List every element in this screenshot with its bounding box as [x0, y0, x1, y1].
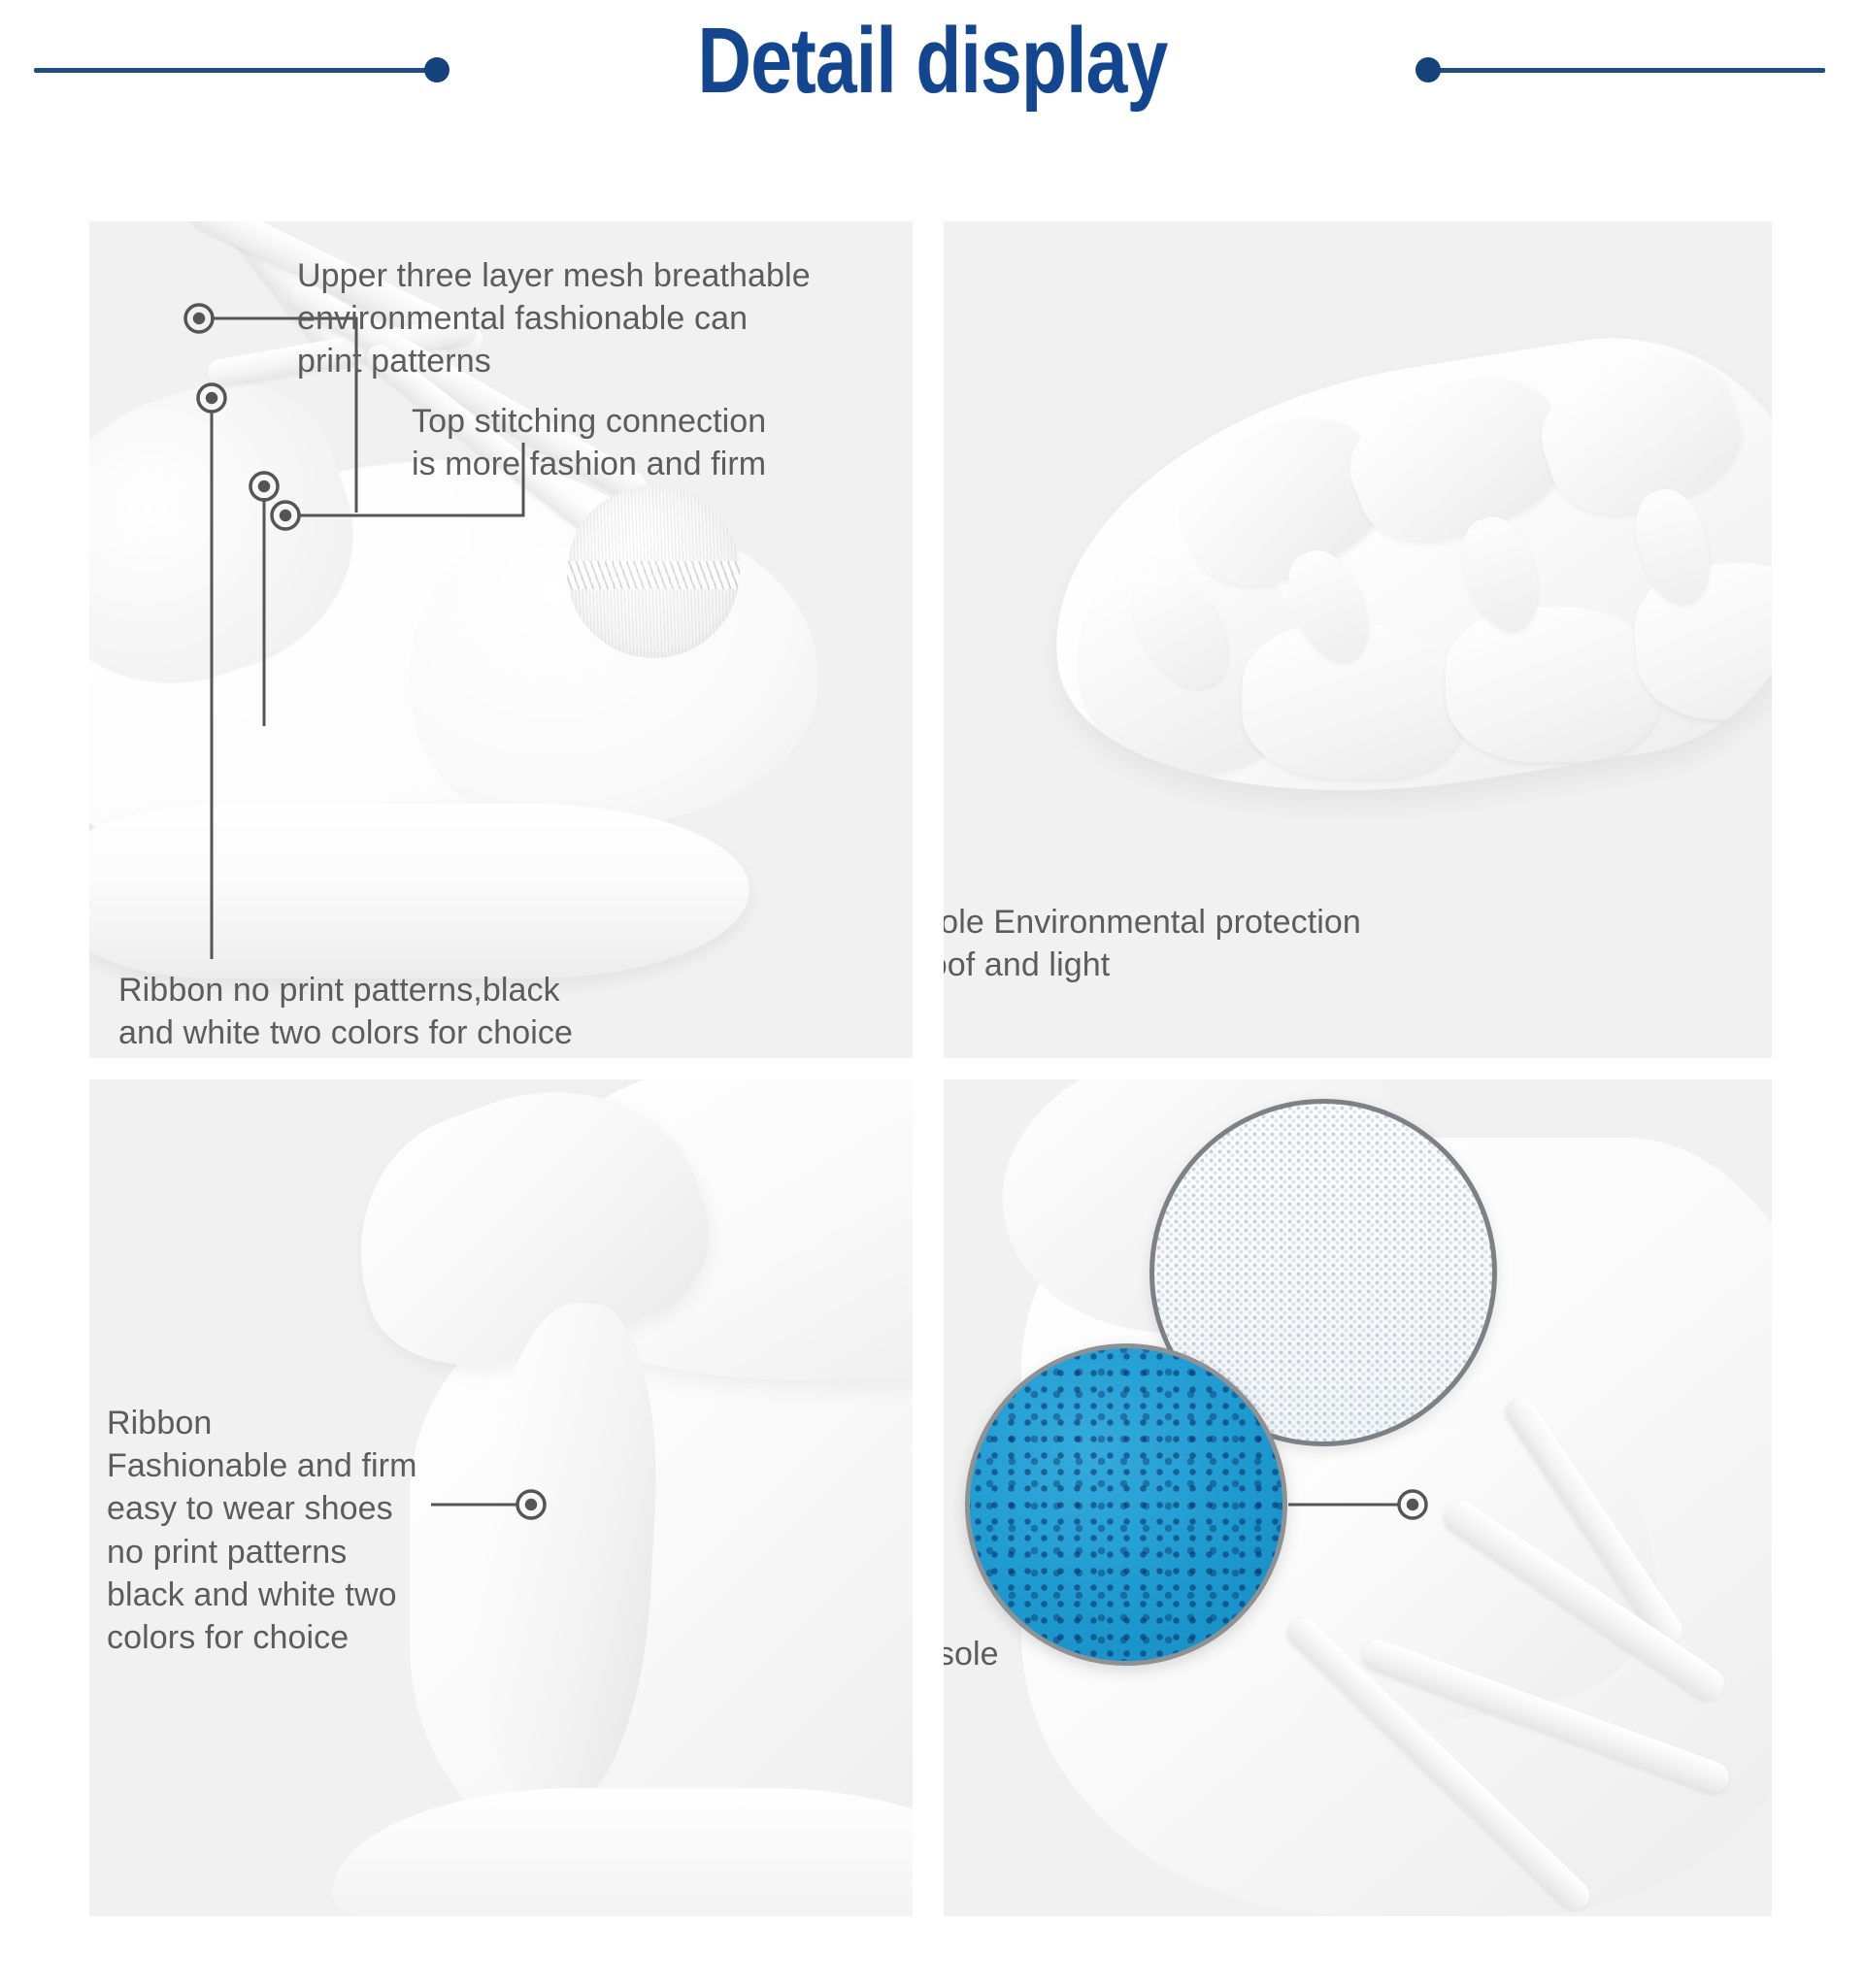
panel-outsole: Phylon sole Environmental protection sho… [944, 221, 1772, 1058]
insole-shoe-photo [944, 1079, 1772, 1916]
caption-upper-mesh: Upper three layer mesh breathable enviro… [297, 254, 913, 383]
stitch-row [567, 561, 740, 588]
caption-phylon-sole: Phylon sole Environmental protection sho… [944, 901, 1550, 986]
insole-blue-swatch-circle [965, 1343, 1287, 1666]
panel-upper-mesh: Upper three layer mesh breathable enviro… [89, 221, 913, 1058]
tread-block [1445, 605, 1661, 764]
caption-high-poly-insole: High poly insole Breathable Deodorant [944, 1633, 1084, 1762]
page-title: Detail display [186, 8, 1679, 115]
caption-ribbon: Ribbon no print patterns,black and white… [118, 969, 740, 1054]
stitch-detail-zoom-circle [567, 485, 740, 658]
shoe-midsole [332, 1788, 913, 1916]
panel-insole: the other side High poly insole Breathab… [944, 1079, 1772, 1916]
panel-heel-ribbon: Ribbon Fashionable and firm easy to wear… [89, 1079, 913, 1916]
phylon-outsole [1020, 310, 1772, 842]
caption-ribbon-detail: Ribbon Fashionable and firm easy to wear… [107, 1402, 553, 1659]
shoe-midsole [89, 804, 749, 978]
page-header: Detail display [0, 0, 1865, 155]
caption-other-side: the other side [944, 1274, 973, 1359]
caption-top-stitching: Top stitching connection is more fashion… [412, 400, 897, 485]
